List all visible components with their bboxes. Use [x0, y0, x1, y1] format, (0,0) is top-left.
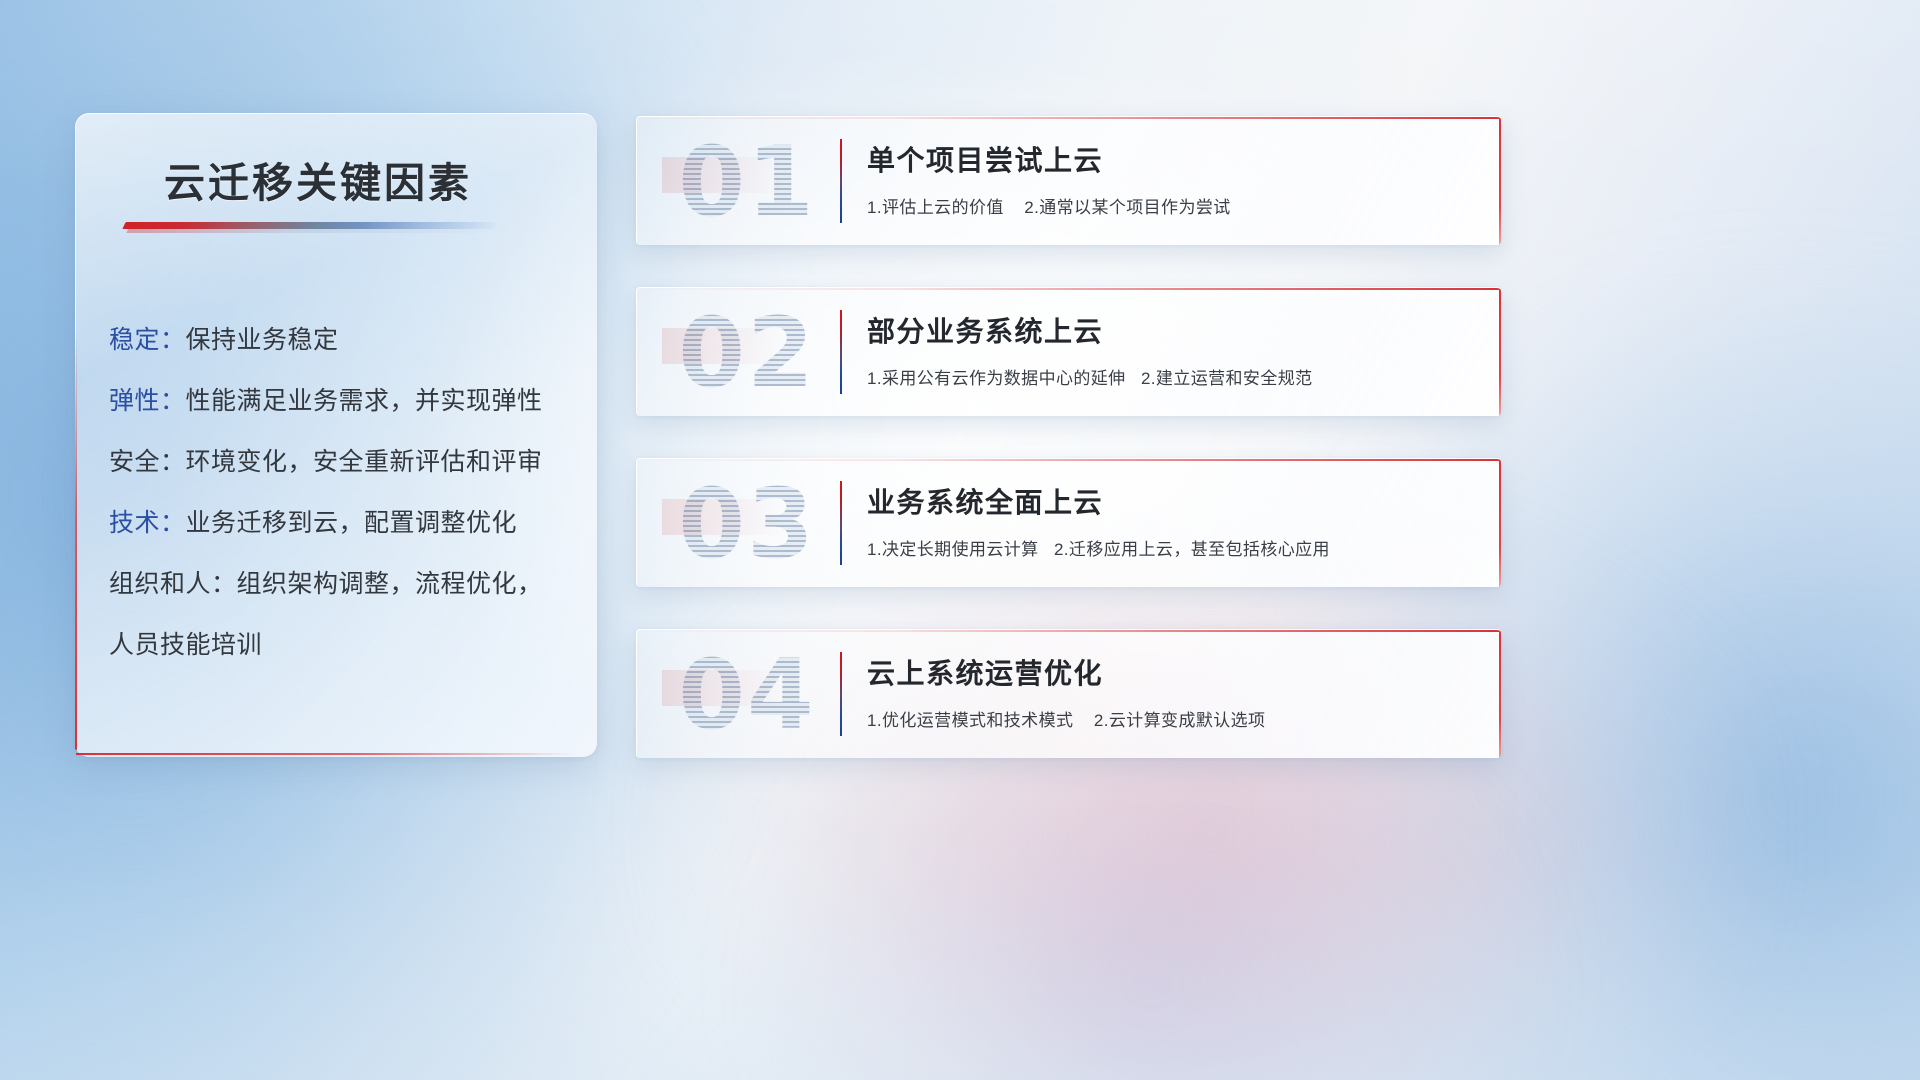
- factor-value: 保持业务稳定: [186, 326, 339, 354]
- step-number: 01: [662, 123, 832, 241]
- factor-row: 技术：业务迁移到云，配置调整优化: [109, 493, 579, 554]
- step-card-04[interactable]: 04 04 云上系统运营优化 1.优化运营模式和技术模式 2.云计算变成默认选项: [636, 629, 1501, 758]
- card-right-red-edge: [1499, 288, 1501, 416]
- factor-row: 弹性：性能满足业务需求，并实现弹性: [109, 371, 579, 432]
- factor-label: 稳定：: [109, 326, 186, 354]
- panel-bottom-red-accent: [76, 753, 576, 755]
- step-description: 1.决定长期使用云计算 2.迁移应用上云，甚至包括核心应用: [867, 535, 1330, 560]
- card-top-red-edge: [637, 288, 1501, 290]
- factor-value: 业务迁移到云，配置调整优化: [186, 509, 518, 537]
- step-divider-line: [840, 139, 842, 223]
- step-description: 1.优化运营模式和技术模式 2.云计算变成默认选项: [867, 706, 1265, 731]
- step-title: 部分业务系统上云: [867, 310, 1103, 350]
- page-title: 云迁移关键因素: [164, 149, 584, 209]
- step-description: 1.评估上云的价值 2.通常以某个项目作为尝试: [867, 193, 1231, 218]
- step-number: 04: [662, 636, 832, 754]
- factor-value: 组织架构调整，流程优化，: [237, 570, 543, 598]
- title-underline-accent: [122, 222, 497, 229]
- factor-label: 安全：: [109, 448, 186, 476]
- factor-label: 弹性：: [109, 387, 186, 415]
- step-card-02[interactable]: 02 02 部分业务系统上云 1.采用公有云作为数据中心的延伸 2.建立运营和安…: [636, 287, 1501, 416]
- step-number: 02: [662, 294, 832, 412]
- step-divider-line: [840, 310, 842, 394]
- factor-row: 稳定：保持业务稳定: [109, 310, 579, 371]
- card-top-red-edge: [637, 459, 1501, 461]
- card-right-red-edge: [1499, 459, 1501, 587]
- factor-label: 组织和人：: [109, 570, 237, 598]
- factor-value: 性能满足业务需求，并实现弹性: [186, 387, 543, 415]
- factor-list: 稳定：保持业务稳定弹性：性能满足业务需求，并实现弹性安全：环境变化，安全重新评估…: [109, 310, 579, 676]
- factor-row: 安全：环境变化，安全重新评估和评审: [109, 432, 579, 493]
- card-top-red-edge: [637, 630, 1501, 632]
- step-number: 03: [662, 465, 832, 583]
- factor-value: 人员技能培训: [109, 631, 262, 659]
- step-card-03[interactable]: 03 03 业务系统全面上云 1.决定长期使用云计算 2.迁移应用上云，甚至包括…: [636, 458, 1501, 587]
- factor-label: 技术：: [109, 509, 186, 537]
- step-divider-line: [840, 652, 842, 736]
- step-title: 业务系统全面上云: [867, 481, 1103, 521]
- step-title: 云上系统运营优化: [867, 652, 1103, 692]
- factor-row: 组织和人：组织架构调整，流程优化，: [109, 554, 579, 615]
- factor-row: 人员技能培训: [109, 615, 579, 676]
- card-right-red-edge: [1499, 630, 1501, 758]
- step-description: 1.采用公有云作为数据中心的延伸 2.建立运营和安全规范: [867, 364, 1313, 389]
- panel-left-red-accent: [75, 330, 77, 750]
- step-divider-line: [840, 481, 842, 565]
- factor-value: 环境变化，安全重新评估和评审: [186, 448, 543, 476]
- key-factors-panel: 云迁移关键因素 稳定：保持业务稳定弹性：性能满足业务需求，并实现弹性安全：环境变…: [75, 113, 597, 757]
- step-title: 单个项目尝试上云: [867, 139, 1103, 179]
- step-card-01[interactable]: 01 01 单个项目尝试上云 1.评估上云的价值 2.通常以某个项目作为尝试: [636, 116, 1501, 245]
- card-right-red-edge: [1499, 117, 1501, 245]
- card-top-red-edge: [637, 117, 1501, 119]
